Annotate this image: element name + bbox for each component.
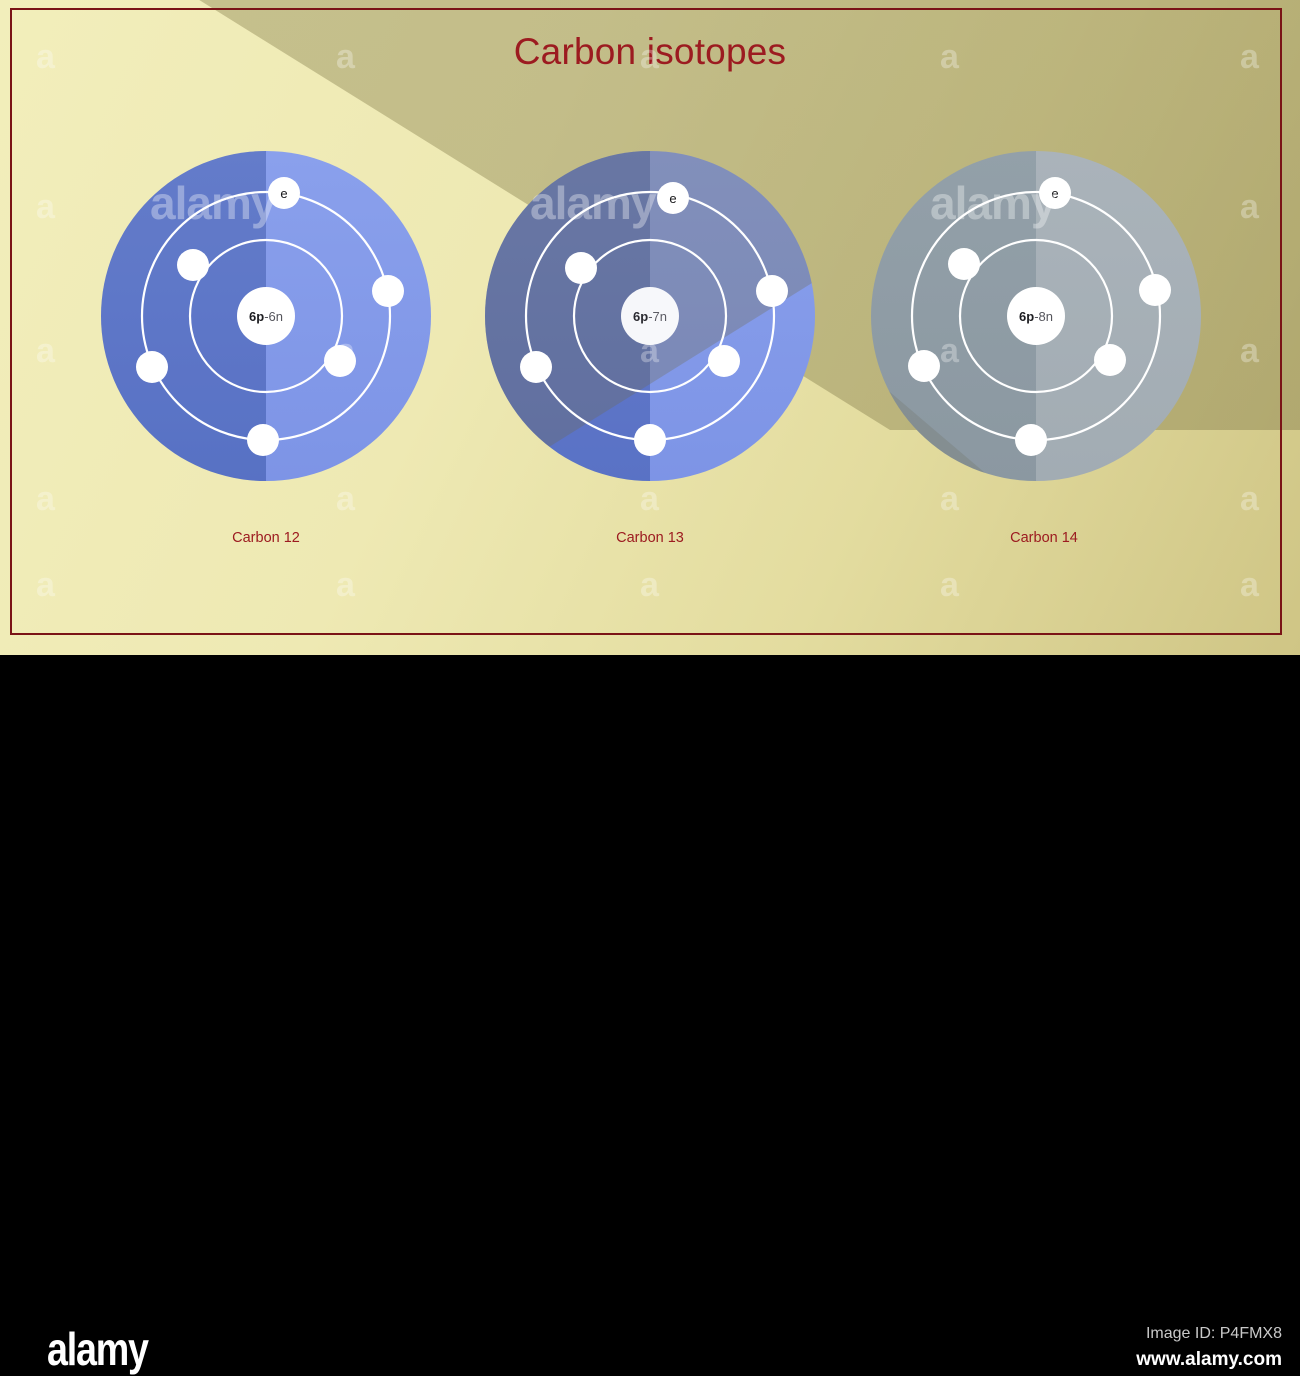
electron	[948, 248, 980, 280]
electron	[372, 275, 404, 307]
electron	[1139, 274, 1171, 306]
electron	[634, 424, 666, 456]
electron	[177, 249, 209, 281]
electron	[756, 275, 788, 307]
atom-caption-carbon-12: Carbon 12	[116, 530, 416, 546]
page-title: Carbon isotopes	[0, 31, 1300, 73]
electron	[520, 351, 552, 383]
website-url[interactable]: www.alamy.com	[1136, 1349, 1282, 1371]
atom-diagram-carbon-14[interactable]: e 6p-8n	[870, 148, 1202, 484]
atom-diagram-carbon-13[interactable]: e 6p-7n	[484, 148, 816, 484]
alamy-logo[interactable]: alamy	[47, 1322, 148, 1376]
illustration-canvas: e 6p-6n Carbon 12	[0, 0, 1300, 655]
electron	[908, 350, 940, 382]
electron	[324, 345, 356, 377]
nucleus-label: 6p-8n	[1019, 309, 1053, 324]
atom-caption-carbon-14: Carbon 14	[894, 530, 1194, 546]
electron	[1094, 344, 1126, 376]
nucleus-label: 6p-7n	[633, 309, 667, 324]
electron	[247, 424, 279, 456]
screenshot-root: e 6p-6n Carbon 12	[0, 0, 1300, 740]
electron-label: e	[280, 186, 287, 201]
electron	[136, 351, 168, 383]
atom-diagram-carbon-12[interactable]: e 6p-6n	[100, 148, 432, 484]
electron-label: e	[1051, 186, 1058, 201]
image-id-label: Image ID: P4FMX8	[1146, 1325, 1282, 1343]
electron	[565, 252, 597, 284]
electron	[1015, 424, 1047, 456]
electron-label: e	[669, 191, 676, 206]
nucleus-label: 6p-6n	[249, 309, 283, 324]
footer-bar: alamy Image ID: P4FMX8 www.alamy.com	[0, 655, 1300, 740]
atom-caption-carbon-13: Carbon 13	[500, 530, 800, 546]
electron	[708, 345, 740, 377]
